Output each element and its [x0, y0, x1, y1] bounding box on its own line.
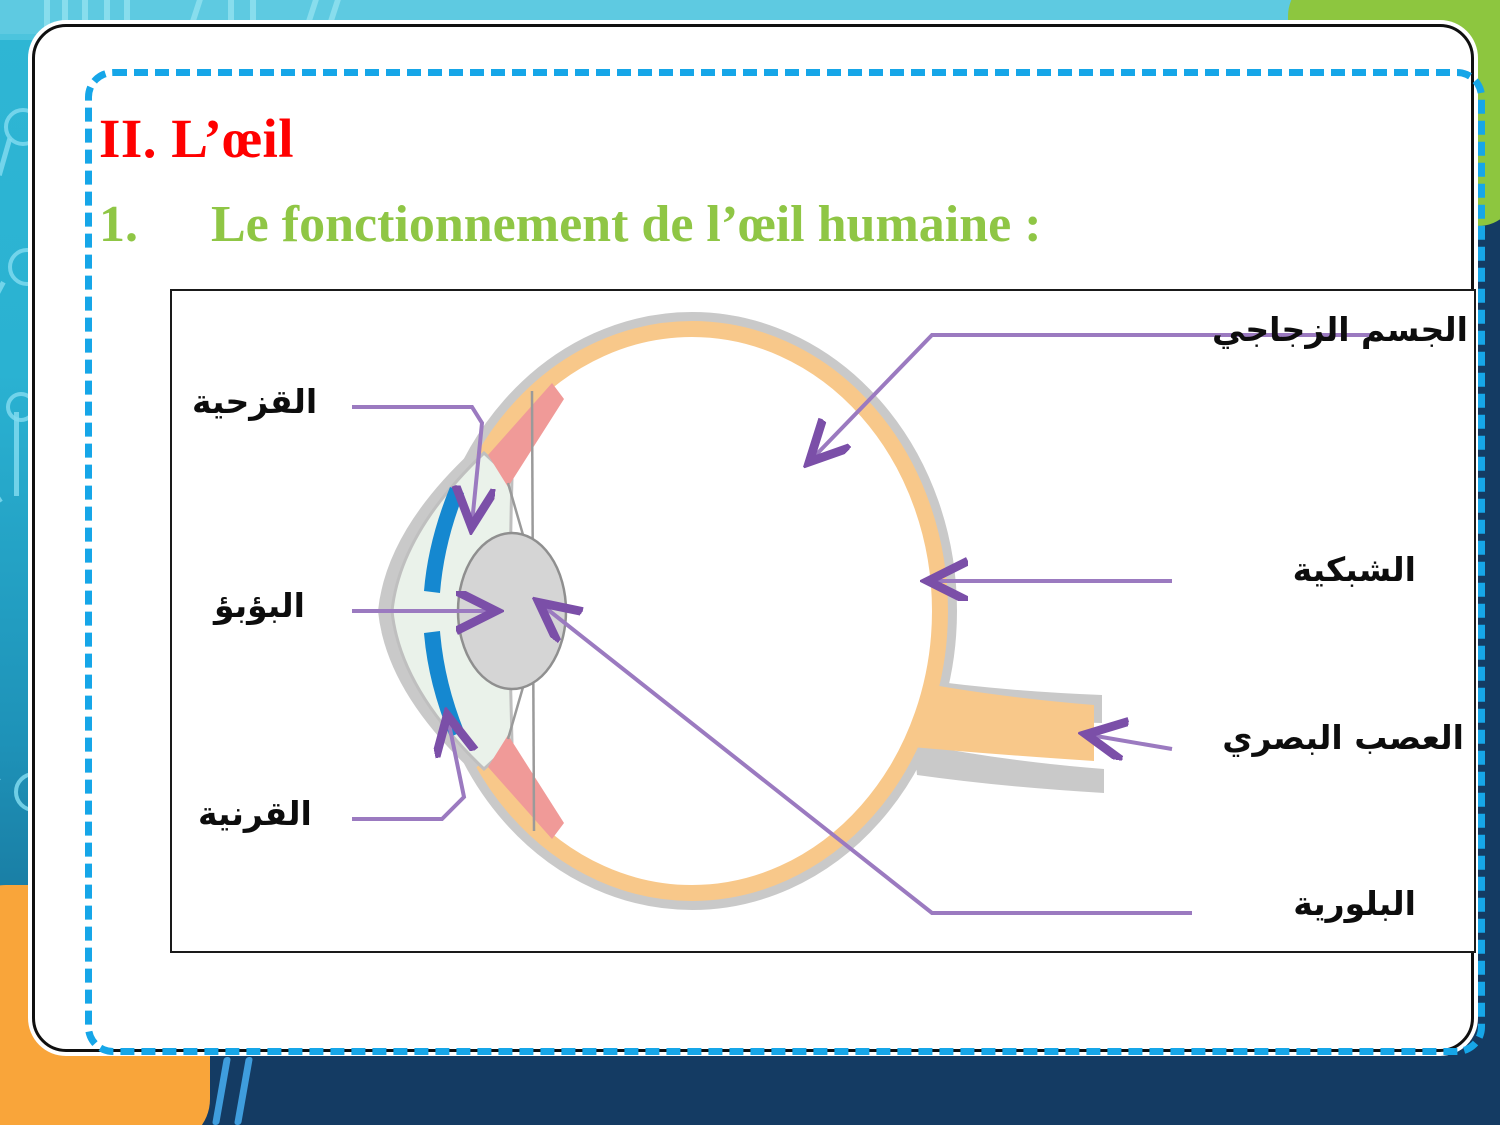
label-retina: الشبكية	[1293, 553, 1416, 586]
section-number: 1.	[99, 195, 211, 254]
circuit-line-icon	[0, 732, 1, 783]
section-subtitle: 1.Le fonctionnement de l’œil humaine :	[99, 195, 1042, 254]
eye-diagram-svg	[172, 291, 1470, 947]
circuit-line-icon	[0, 281, 6, 347]
label-optic-nerve: العصب البصري	[1222, 721, 1464, 754]
leader-optic-nerve	[1090, 735, 1172, 749]
slide-card: II. L’œil 1.Le fonctionnement de l’œil h…	[32, 24, 1474, 1052]
section-subtitle-text: Le fonctionnement de l’œil humaine :	[211, 196, 1042, 253]
eye-diagram-frame: الجسم الزجاجي الشبكية العصب البصري البلو…	[170, 289, 1476, 953]
circuit-line-icon	[0, 138, 12, 176]
label-iris: القزحية	[192, 385, 317, 418]
page-title: II. L’œil	[99, 107, 294, 170]
circuit-line-icon	[14, 412, 19, 496]
label-lens: البلورية	[1293, 887, 1416, 920]
slide-canvas: II. L’œil 1.Le fonctionnement de l’œil h…	[0, 0, 1500, 1125]
circuit-line-icon	[0, 497, 3, 530]
label-vitreous-body: الجسم الزجاجي	[1212, 313, 1468, 346]
label-cornea: القرنية	[198, 797, 312, 830]
label-pupil: البؤبؤ	[214, 589, 305, 622]
